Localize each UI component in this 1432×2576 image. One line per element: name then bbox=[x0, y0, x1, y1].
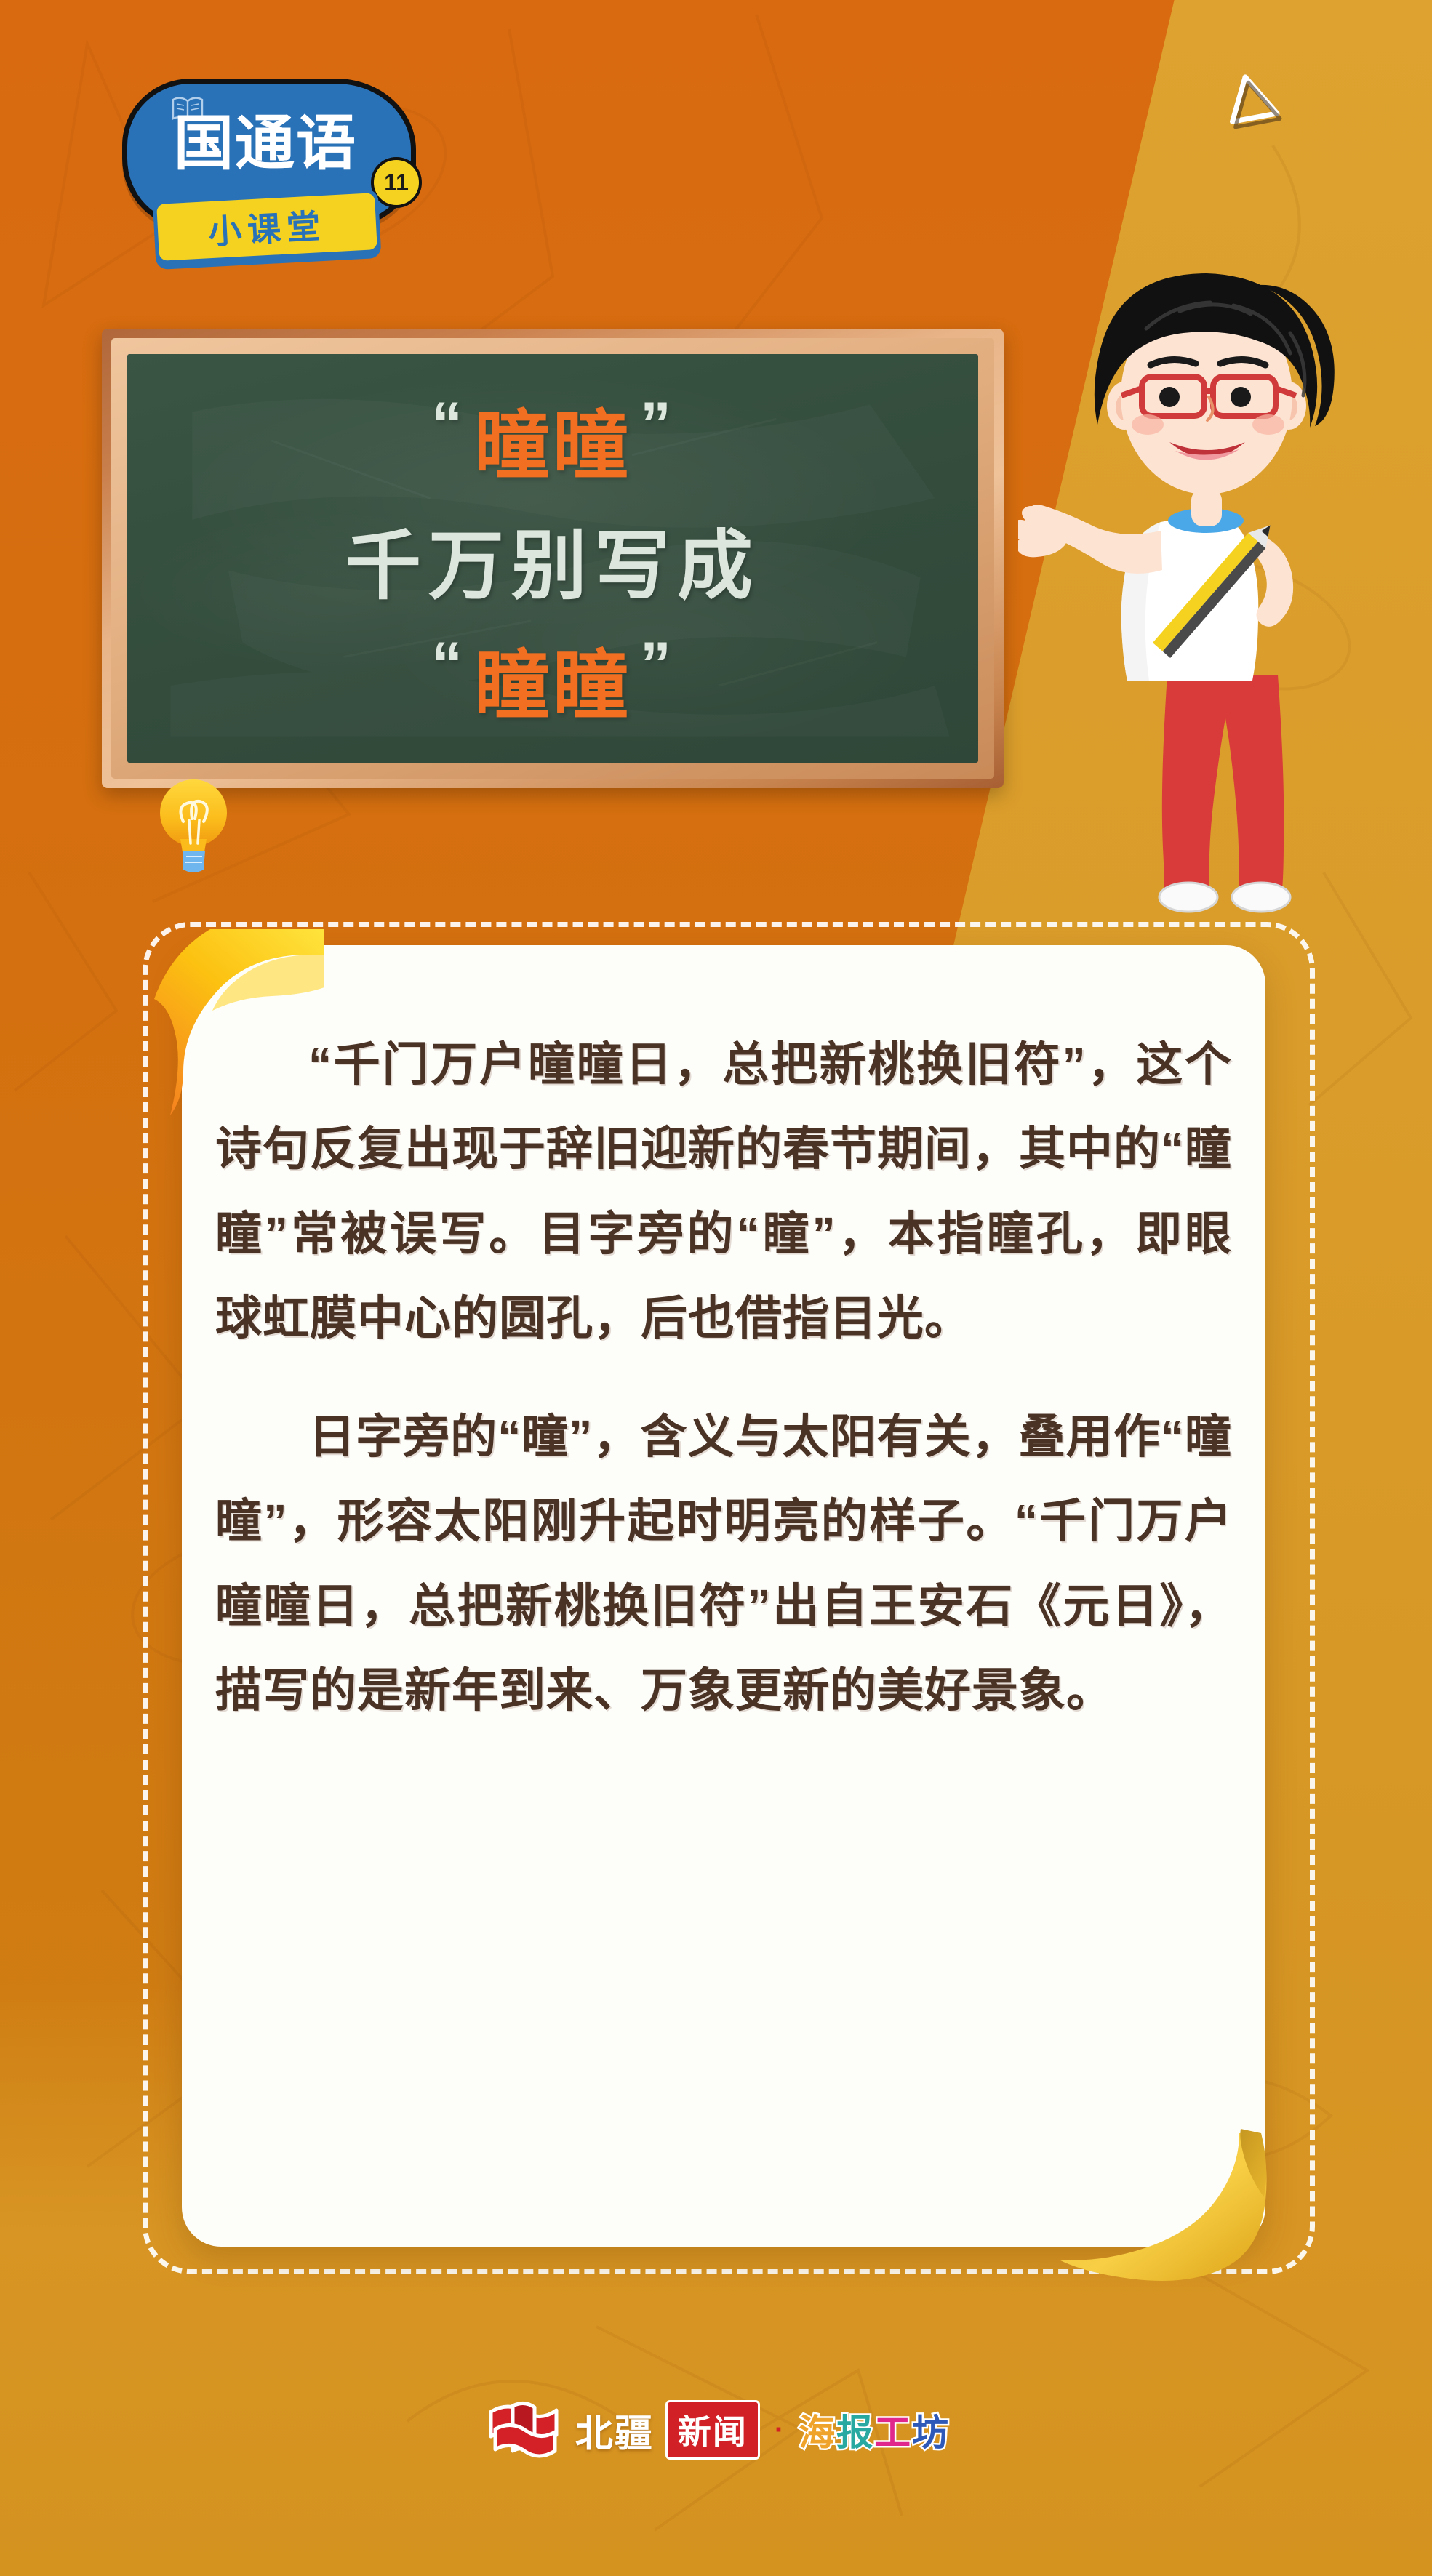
blackboard-line-3-text: 瞳瞳 bbox=[474, 644, 631, 729]
article-paragraph-1: “千门万户曈曈日，总把新桃换旧符”，这个诗句反复出现于辞旧迎新的春节期间，其中的… bbox=[215, 1022, 1232, 1361]
footer-studio-name: 海报工坊 bbox=[799, 2404, 950, 2456]
episode-number-badge: 11 bbox=[371, 157, 422, 208]
quote-open-3: “ bbox=[423, 630, 474, 699]
lightbulb-icon bbox=[154, 772, 233, 875]
blackboard-line-2: 千万别写成 bbox=[127, 504, 978, 614]
blackboard-line-1: “曈曈” bbox=[127, 384, 978, 494]
program-logo[interactable]: 国通语 11 小课堂 bbox=[106, 79, 433, 253]
footer-brand-name: 北疆 bbox=[575, 2403, 654, 2457]
blackboard: “曈曈” 千万别写成 “瞳瞳” bbox=[102, 329, 1004, 788]
quote-open-1: “ bbox=[423, 390, 474, 460]
student-boy-illustration bbox=[1018, 241, 1396, 913]
studio-char-2: 报 bbox=[836, 2412, 874, 2453]
red-flag-icon bbox=[482, 2400, 564, 2460]
logo-subtitle-badge: 小课堂 bbox=[153, 189, 381, 265]
article-text: “千门万户曈曈日，总把新桃换旧符”，这个诗句反复出现于辞旧迎新的春节期间，其中的… bbox=[215, 1022, 1232, 1733]
quote-close-1: ” bbox=[631, 390, 683, 460]
blackboard-frame: “曈曈” 千万别写成 “瞳瞳” bbox=[102, 329, 1004, 788]
quote-close-3: ” bbox=[631, 630, 683, 699]
blackboard-inner-edge: “曈曈” 千万别写成 “瞳瞳” bbox=[111, 338, 994, 779]
article-paragraph-2: 日字旁的“曈”，含义与太阳有关，叠用作“曈曈”，形容太阳刚升起时明亮的样子。“千… bbox=[215, 1395, 1232, 1733]
blackboard-line-3: “瞳瞳” bbox=[127, 624, 978, 734]
studio-char-4: 坊 bbox=[912, 2412, 950, 2453]
footer-news-badge: 新闻 bbox=[665, 2400, 760, 2460]
footer-brand-bar: 北疆 新闻 · 海报工坊 bbox=[0, 2386, 1432, 2473]
studio-char-3: 工 bbox=[874, 2412, 912, 2453]
footer-separator: · bbox=[772, 2414, 787, 2447]
logo-title: 国通语 bbox=[156, 116, 375, 172]
blackboard-surface: “曈曈” 千万别写成 “瞳瞳” bbox=[127, 354, 978, 763]
blackboard-line-1-text: 曈曈 bbox=[474, 404, 631, 489]
studio-char-1: 海 bbox=[799, 2412, 836, 2453]
